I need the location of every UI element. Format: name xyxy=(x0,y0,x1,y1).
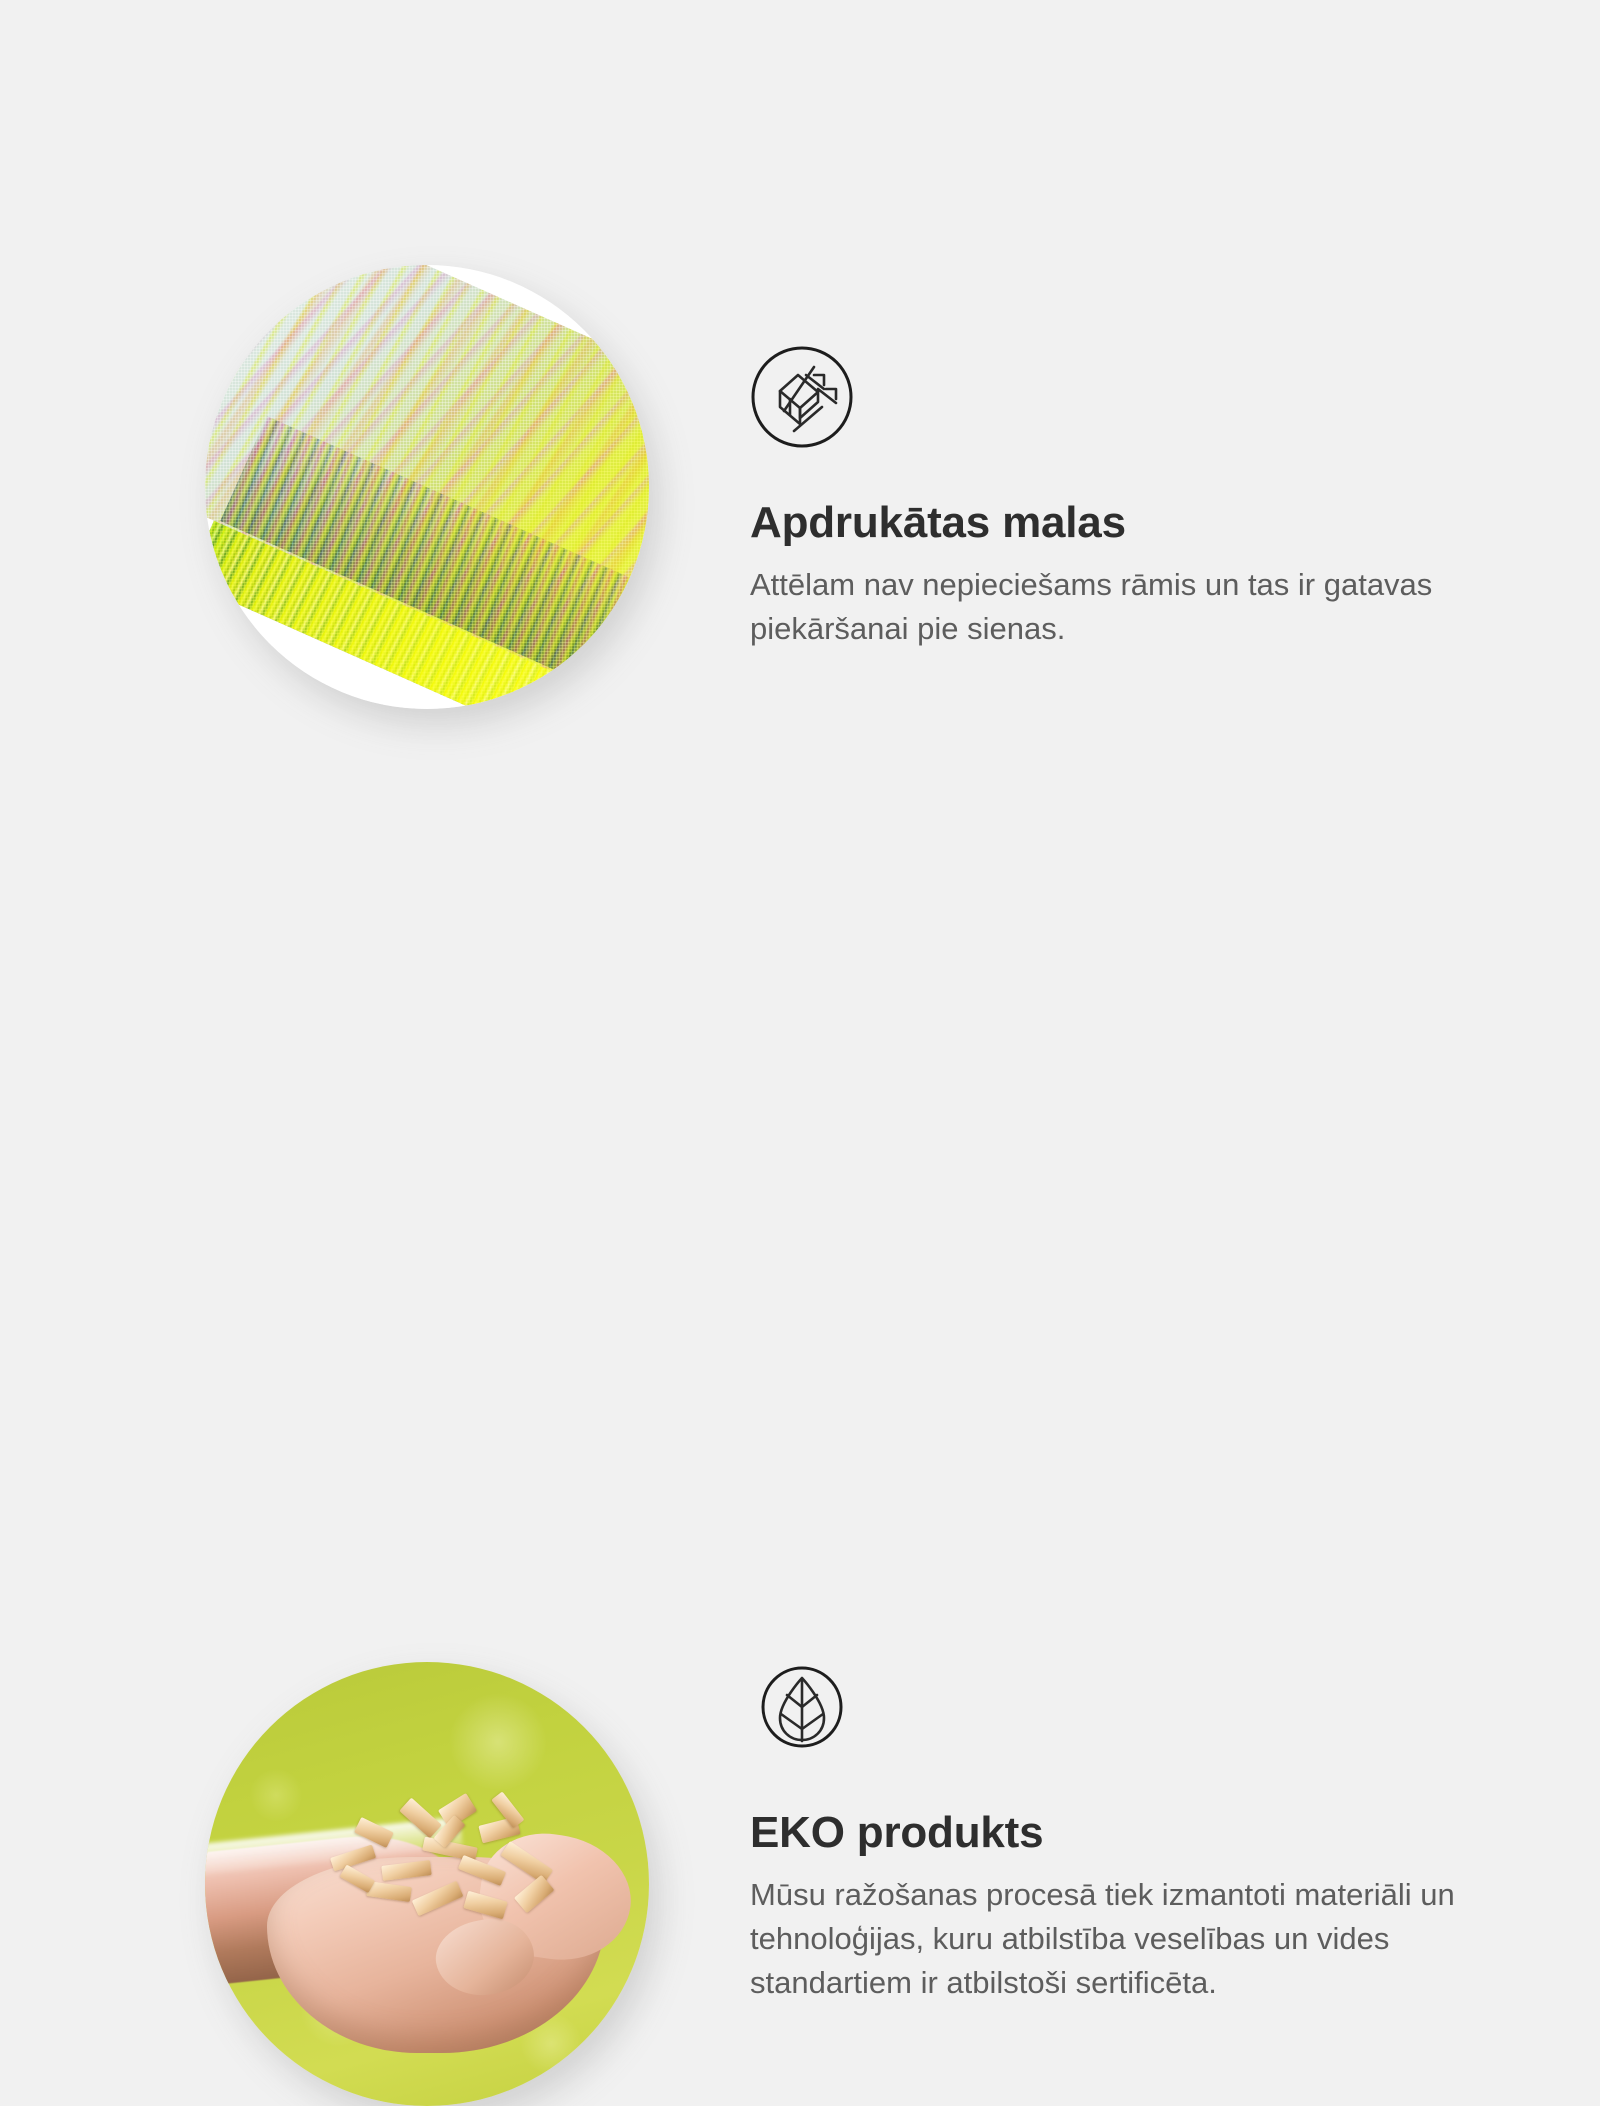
canvas-print-corner-photo xyxy=(205,265,649,709)
feature-block-eco-product: EKO produkts Mūsu ražošanas procesā tiek… xyxy=(0,800,1600,1600)
product-features-page: Apdrukātas malas Attēlam nav nepieciešam… xyxy=(0,0,1600,1600)
media-circle xyxy=(205,265,649,709)
hand-holding-wood-chips-photo xyxy=(205,1662,649,2106)
feature-description: Mūsu ražošanas procesā tiek izmantoti ma… xyxy=(750,1873,1465,2005)
eco-photo xyxy=(205,1662,649,2106)
leaf-icon xyxy=(750,1655,854,1759)
feature-description: Attēlam nav nepieciešams rāmis un tas ir… xyxy=(750,563,1465,651)
canvas-wrapped-edges-icon xyxy=(750,345,854,449)
feature-text-eco-product: EKO produkts Mūsu ražošanas procesā tiek… xyxy=(750,1655,1480,2005)
wood-chip-pile xyxy=(320,1791,578,1942)
feature-text-printed-edges: Apdrukātas malas Attēlam nav nepieciešam… xyxy=(750,345,1480,651)
feature-block-printed-edges: Apdrukātas malas Attēlam nav nepieciešam… xyxy=(0,0,1600,800)
media-circle xyxy=(205,1662,649,2106)
canvas-photo xyxy=(205,265,649,709)
feature-title: Apdrukātas malas xyxy=(750,498,1480,547)
feature-title: EKO produkts xyxy=(750,1808,1480,1857)
